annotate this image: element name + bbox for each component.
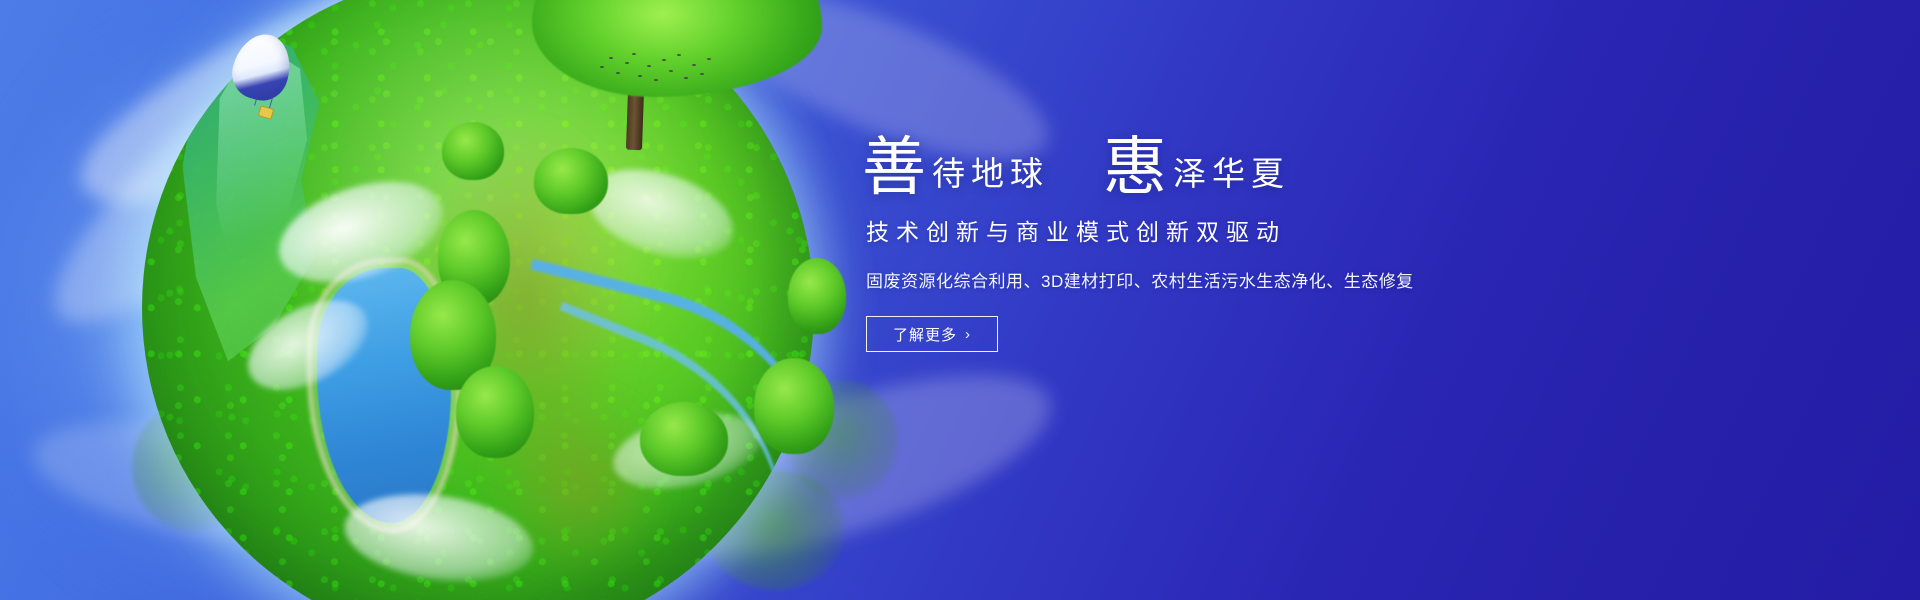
tree-icon — [640, 402, 728, 476]
headline-rest-2: 泽华夏 — [1167, 157, 1290, 199]
tree-icon — [456, 366, 534, 458]
headline-lead-char-1: 善 — [862, 138, 926, 199]
headline-lead-char-2: 惠 — [1103, 138, 1167, 199]
tree-icon — [754, 358, 834, 454]
hero-banner: 善 待地球 惠 泽华夏 技术创新与商业模式创新双驱动 固废资源化综合利用、3D建… — [0, 0, 1920, 600]
balloon-basket — [258, 105, 274, 119]
chevron-right-icon: › — [965, 327, 971, 342]
hero-subtitle: 技术创新与商业模式创新双驱动 — [866, 213, 1622, 247]
tree-icon — [442, 122, 504, 180]
headline-rest-1: 待地球 — [926, 157, 1049, 199]
hot-air-balloon-icon — [234, 34, 290, 122]
hero-headline: 善 待地球 惠 泽华夏 — [862, 138, 1622, 199]
tree-icon — [788, 258, 846, 334]
bird-flock-icon — [596, 48, 716, 90]
tree-icon — [534, 148, 608, 214]
learn-more-button[interactable]: 了解更多 › — [866, 316, 998, 352]
hero-content: 善 待地球 惠 泽华夏 技术创新与商业模式创新双驱动 固废资源化综合利用、3D建… — [862, 138, 1622, 352]
learn-more-label: 了解更多 — [893, 324, 957, 345]
hero-description: 固废资源化综合利用、3D建材打印、农村生活污水生态净化、生态修复 — [866, 267, 1622, 292]
